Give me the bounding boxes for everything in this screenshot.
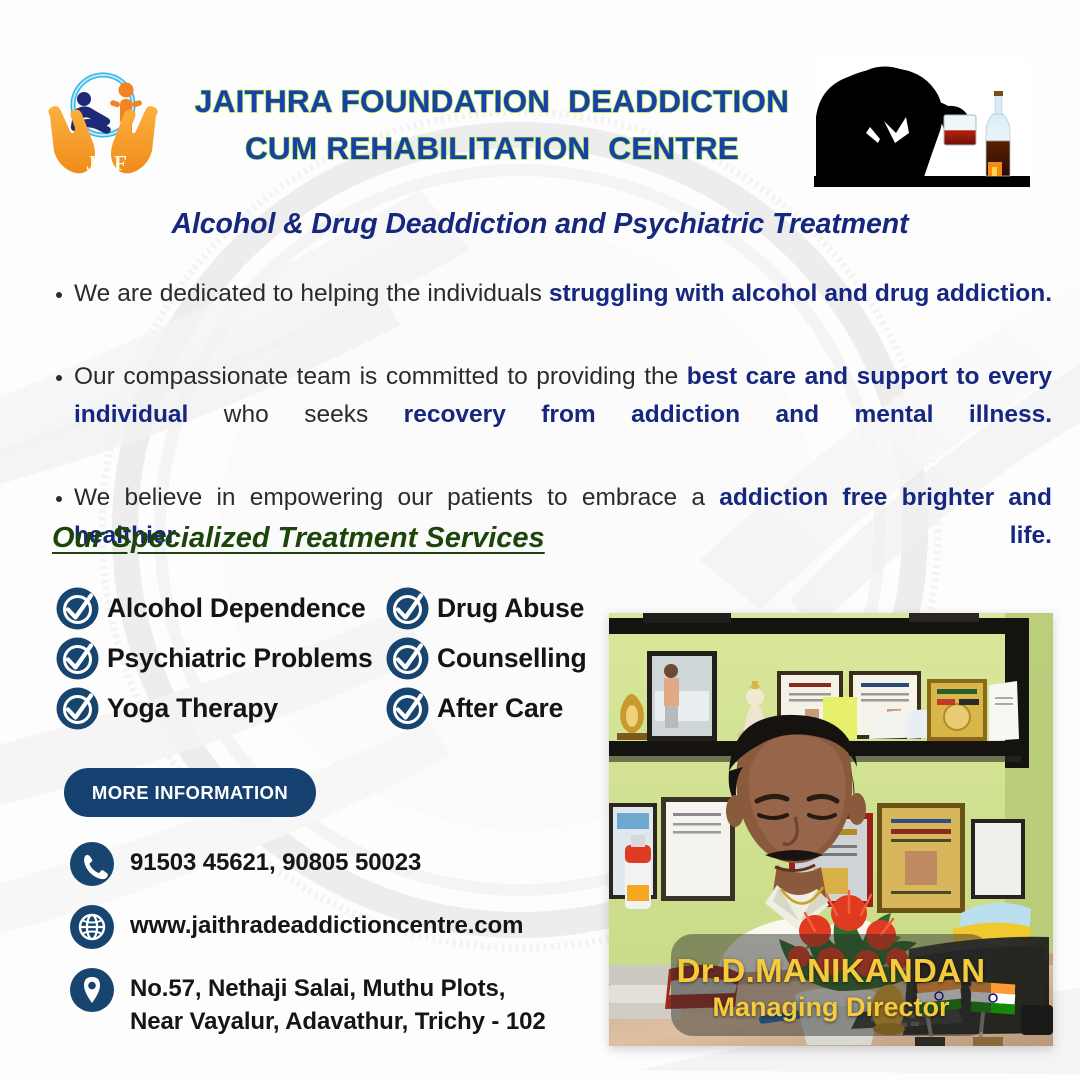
service-item-drug-abuse: Drug Abuse xyxy=(385,586,584,631)
address-line-2: Near Vayalur, Adavathur, Trichy - 102 xyxy=(130,1005,546,1038)
check-circle-icon xyxy=(55,686,100,731)
check-circle-icon xyxy=(385,586,430,631)
bullet-text: Our compassionate team is committed to p… xyxy=(74,363,687,390)
service-label: Drug Abuse xyxy=(437,593,584,624)
service-label: After Care xyxy=(437,693,563,724)
service-item-yoga-therapy: Yoga Therapy xyxy=(55,686,385,731)
check-circle-icon xyxy=(385,636,430,681)
address-line-1: No.57, Nethaji Salai, Muthu Plots, xyxy=(130,975,505,1002)
bullet-emphasis: recovery from addiction and mental illne… xyxy=(404,401,1052,428)
phone-number: 91503 45621, 90805 50023 xyxy=(130,842,421,879)
bullet-text: who seeks xyxy=(188,401,403,428)
globe-icon xyxy=(70,905,114,949)
director-photo: VAIO xyxy=(609,613,1053,1046)
service-item-psychiatric-problems: Psychiatric Problems xyxy=(55,636,385,681)
contact-address: No.57, Nethaji Salai, Muthu Plots, Near … xyxy=(70,968,600,1038)
service-label: Psychiatric Problems xyxy=(107,643,373,674)
more-information-button[interactable]: MORE INFORMATION xyxy=(64,768,316,817)
service-item-counselling: Counselling xyxy=(385,636,586,681)
services-row: Alcohol Dependence Drug Abuse xyxy=(55,585,615,632)
svg-text:J: J xyxy=(86,151,97,175)
services-row: Psychiatric Problems Counselling xyxy=(55,635,615,682)
service-item-after-care: After Care xyxy=(385,686,563,731)
services-heading: Our Specialized Treatment Services xyxy=(52,522,545,555)
service-label: Alcohol Dependence xyxy=(107,593,366,624)
address-text: No.57, Nethaji Salai, Muthu Plots, Near … xyxy=(130,968,546,1038)
phone-icon xyxy=(70,842,114,886)
service-label: Counselling xyxy=(437,643,586,674)
services-list: Alcohol Dependence Drug Abuse P xyxy=(55,585,615,735)
service-label: Yoga Therapy xyxy=(107,693,278,724)
organization-logo: J F xyxy=(38,58,168,178)
contact-phone[interactable]: 91503 45621, 90805 50023 xyxy=(70,842,600,886)
check-circle-icon xyxy=(55,586,100,631)
list-item: Our compassionate team is committed to p… xyxy=(52,358,1052,472)
website-url: www.jaithradeaddictioncentre.com xyxy=(130,905,523,942)
page-subtitle: Alcohol & Drug Deaddiction and Psychiatr… xyxy=(0,208,1080,241)
bullet-text: We are dedicated to helping the individu… xyxy=(74,280,549,307)
contact-info: 91503 45621, 90805 50023 www.jaithradead… xyxy=(70,842,600,1057)
services-row: Yoga Therapy After Care xyxy=(55,685,615,732)
addiction-silhouette-image xyxy=(814,57,1030,187)
location-pin-icon xyxy=(70,968,114,1012)
org-title-line1: JAITHRA FOUNDATION DEADDICTION xyxy=(172,78,812,125)
check-circle-icon xyxy=(55,636,100,681)
organization-title: JAITHRA FOUNDATION DEADDICTION CUM REHAB… xyxy=(172,78,812,172)
bullet-emphasis: struggling with alcohol and drug addicti… xyxy=(549,280,1052,307)
contact-website[interactable]: www.jaithradeaddictioncentre.com xyxy=(70,905,600,949)
org-title-line2: CUM REHABILITATION CENTRE xyxy=(172,125,812,172)
bullet-text: We believe in empowering our patients to… xyxy=(74,484,719,511)
service-item-alcohol-dependence: Alcohol Dependence xyxy=(55,586,385,631)
list-item: We are dedicated to helping the individu… xyxy=(52,275,1052,351)
svg-text:F: F xyxy=(114,151,127,175)
check-circle-icon xyxy=(385,686,430,731)
header: J F JAITHRA FOUNDATION DEADDICTION CUM R… xyxy=(0,0,1080,200)
